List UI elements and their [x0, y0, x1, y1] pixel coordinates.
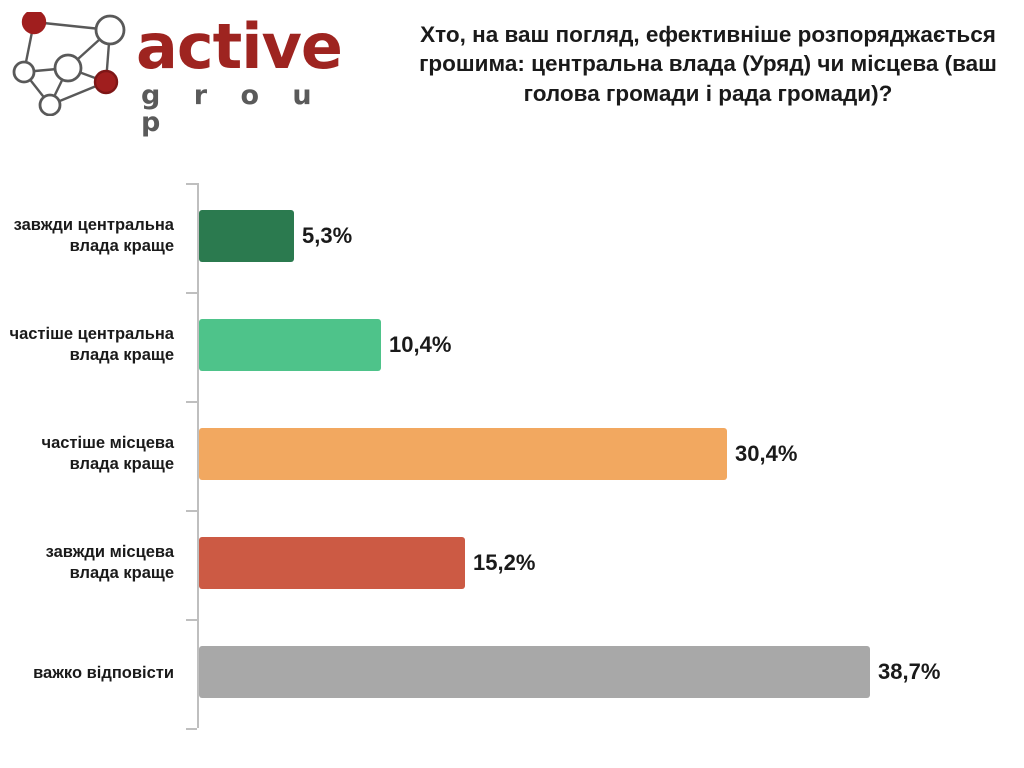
- network-graph-logo-icon: [12, 12, 134, 116]
- slide-canvas: active g r o u p Хто, на ваш погляд, ефе…: [0, 0, 1024, 768]
- axis-tick: [186, 401, 197, 403]
- category-label: завжди центральна влада краще: [0, 215, 182, 257]
- axis-tick: [186, 183, 197, 185]
- category-label: частіше центральна влада краще: [0, 324, 182, 366]
- bar-segment[interactable]: [199, 210, 294, 262]
- axis-tick: [186, 619, 197, 621]
- category-label: завжди місцева влада краще: [0, 542, 182, 584]
- bar-value-label: 30,4%: [735, 441, 797, 467]
- axis-tick: [186, 292, 197, 294]
- bar-value-label: 38,7%: [878, 659, 940, 685]
- category-label: важко відповісти: [0, 663, 182, 684]
- chart-plot-area: завжди центральна влада краще 5,3% часті…: [0, 165, 1024, 740]
- axis-tick: [186, 510, 197, 512]
- bar-value-label: 10,4%: [389, 332, 451, 358]
- axis-tick: [186, 728, 197, 730]
- logo-word-group: g r o u p: [141, 82, 326, 136]
- bar-segment[interactable]: [199, 537, 465, 589]
- category-label: частіше місцева влада краще: [0, 433, 182, 475]
- active-group-logo: active g r o u p: [8, 8, 328, 120]
- bar-value-label: 15,2%: [473, 550, 535, 576]
- bar-segment[interactable]: [199, 646, 870, 698]
- logo-word-active: active: [136, 16, 342, 78]
- bar-segment[interactable]: [199, 428, 727, 480]
- logo-wordmark: active g r o u p: [136, 14, 326, 114]
- bar-segment[interactable]: [199, 319, 381, 371]
- bar-value-label: 5,3%: [302, 223, 352, 249]
- chart-title: Хто, на ваш погляд, ефективніше розпоряд…: [396, 20, 1020, 108]
